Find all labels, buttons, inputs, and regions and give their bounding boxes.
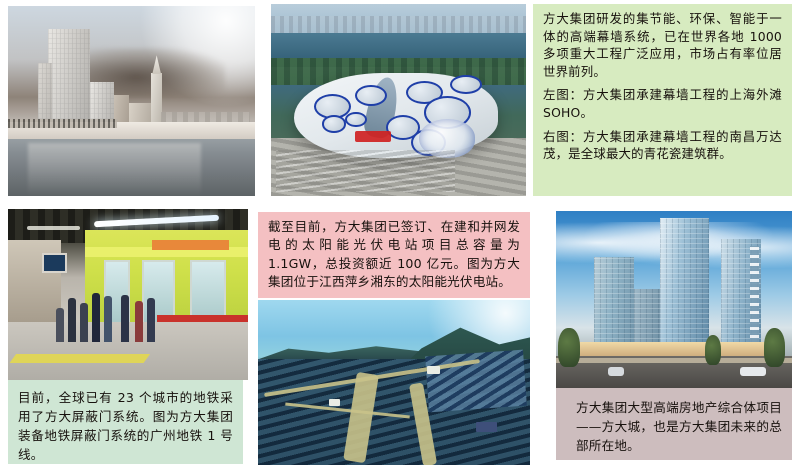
tower-facade-stripe <box>750 246 759 345</box>
passenger <box>121 295 129 343</box>
platform-wall <box>8 240 61 322</box>
street-car <box>608 367 625 376</box>
roof-oval-5 <box>450 75 482 94</box>
curtain-wall-paragraph-1: 方大集团研发的集节能、环保、智能于一体的高端幕墙系统，已在世界各地 1000 多… <box>543 10 782 80</box>
curtain-wall-paragraph-3: 右图：方大集团承建幕墙工程的南昌万达茂，是全球最大的青花瓷建筑群。 <box>543 128 782 163</box>
mountain-ridge-far <box>258 343 427 360</box>
substation-building-2 <box>329 399 340 406</box>
street-car <box>740 367 766 376</box>
roof-oval-7 <box>322 115 346 132</box>
photo-guangzhou-metro-platform <box>8 209 248 380</box>
train-red-stripe <box>157 315 248 322</box>
water-reflection <box>28 143 201 196</box>
substation-building-1 <box>427 366 441 374</box>
tower-west <box>594 257 634 349</box>
wanda-red-signage <box>355 131 391 143</box>
passenger <box>135 301 143 342</box>
street-tree <box>764 328 785 367</box>
platform-info-screen <box>42 253 68 272</box>
note-metro-screen-doors: 目前，全球已有 23 个城市的地铁采用了方大屏蔽门系统。图为方大集团装备地铁屏蔽… <box>8 380 243 464</box>
metro-paragraph-1: 目前，全球已有 23 个城市的地铁采用了方大屏蔽门系统。图为方大集团装备地铁屏蔽… <box>18 389 233 464</box>
note-real-estate: 方大集团大型高端房地产综合体项目——方大城，也是方大集团未来的总部所在地。 <box>556 388 792 460</box>
photo-fangda-city <box>556 211 792 388</box>
passenger <box>80 303 88 342</box>
promenade-crowd <box>8 119 117 128</box>
passenger <box>147 298 155 342</box>
platform-safety-line <box>10 354 151 363</box>
substation-building-3 <box>476 422 498 432</box>
solar-paragraph-1: 截至目前，方大集团已签订、在建和并网发电的太阳能光伏电站项目总容量为 1.1GW… <box>268 218 520 292</box>
ceiling-light-tube-2 <box>27 226 80 230</box>
plaza-steps <box>276 150 455 192</box>
tower-low-rise <box>634 289 660 349</box>
street-curb <box>556 358 792 363</box>
curtain-wall-paragraph-2: 左图：方大集团承建幕墙工程的上海外滩 SOHO。 <box>543 86 782 121</box>
passenger <box>56 308 64 342</box>
passenger <box>92 293 100 343</box>
roof-oval-8 <box>345 112 367 128</box>
train-orange-band <box>152 240 229 250</box>
tower-main <box>660 218 710 349</box>
street-tree <box>558 328 579 367</box>
passenger <box>68 298 76 342</box>
street-tree <box>705 335 722 365</box>
background-cityscape <box>271 16 526 33</box>
real-estate-paragraph-1: 方大集团大型高端房地产综合体项目——方大城，也是方大集团未来的总部所在地。 <box>576 399 782 456</box>
note-solar-pv: 截至目前，方大集团已签订、在建和并网发电的太阳能光伏电站项目总容量为 1.1GW… <box>258 212 530 298</box>
roof-oval-2 <box>355 85 387 106</box>
photo-nanchang-wanda-mao <box>271 4 526 196</box>
note-curtain-wall: 方大集团研发的集节能、环保、智能于一体的高端幕墙系统，已在世界各地 1000 多… <box>533 4 792 196</box>
photo-shanghai-bund-soho <box>8 6 255 196</box>
passenger <box>104 296 112 342</box>
photo-pingxiang-solar-farm <box>258 300 530 465</box>
